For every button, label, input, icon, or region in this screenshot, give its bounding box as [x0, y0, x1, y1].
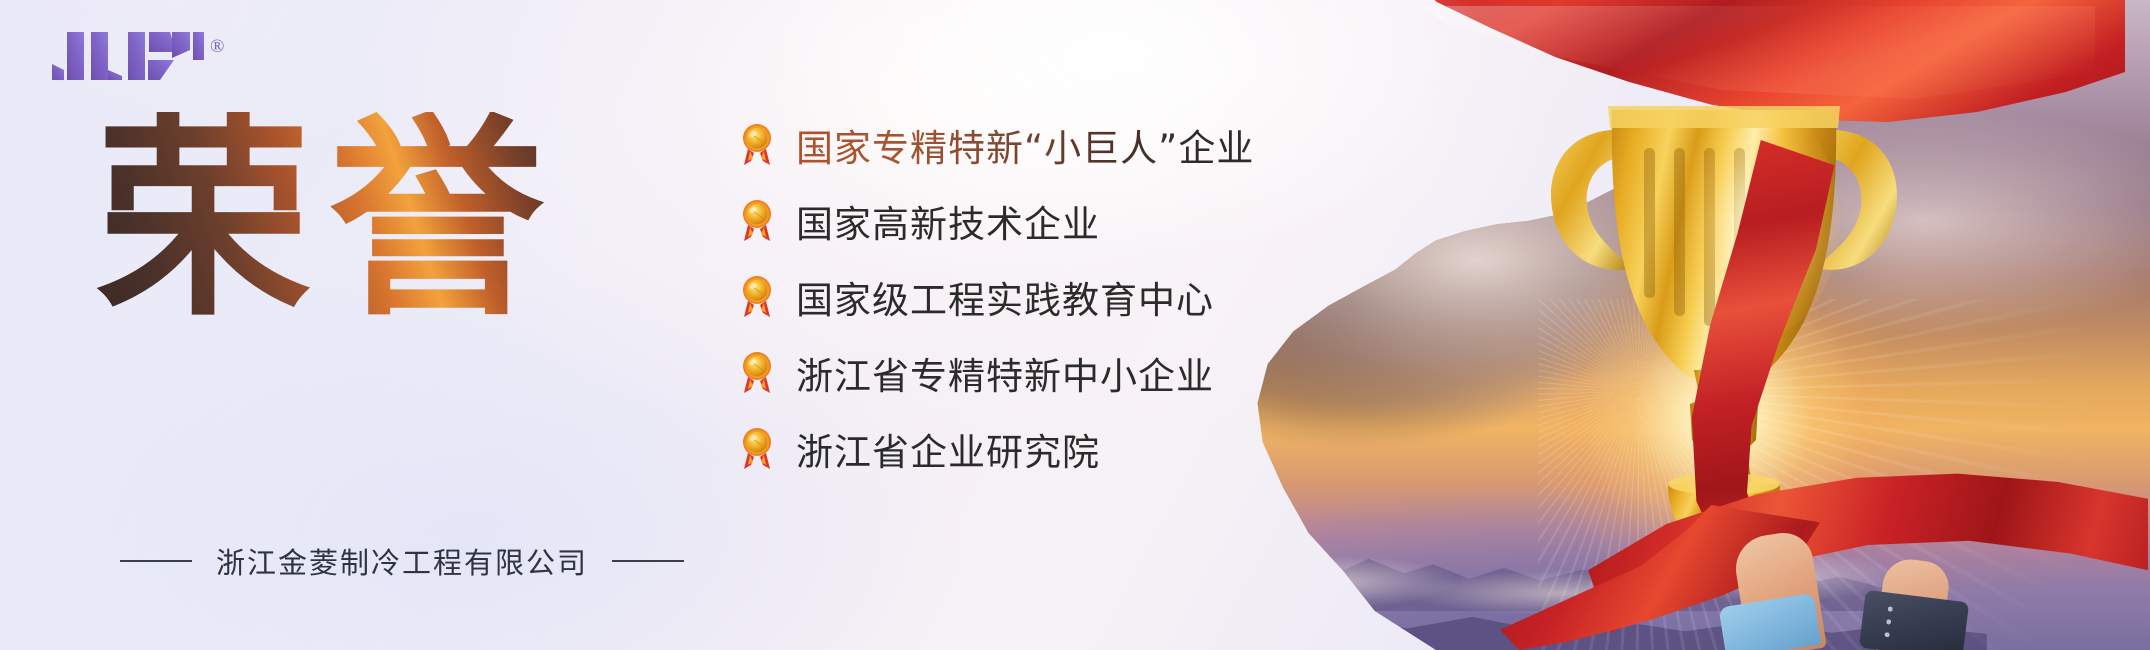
mountain-ridge-near-icon [1171, 578, 1987, 650]
cloud-sea [1191, 527, 1966, 637]
honor-label: 浙江省专精特新中小企业 [796, 346, 1214, 400]
sunset-mountain-scene [1130, 0, 2150, 650]
honor-item-0[interactable]: 国家专精特新“小巨人”企业 [740, 118, 1254, 172]
jllt-logomark-icon [52, 32, 204, 80]
company-name-block: 浙江金菱制冷工程有限公司 [120, 540, 684, 582]
honor-list: 国家专精特新“小巨人”企业 国家高新技术企业 [740, 118, 1254, 476]
honor-item-3[interactable]: 浙江省专精特新中小企业 [740, 346, 1254, 400]
medal-icon [740, 123, 774, 167]
rule-left [120, 560, 192, 562]
honor-label: 浙江省企业研究院 [796, 422, 1100, 476]
honor-label: 国家级工程实践教育中心 [796, 270, 1214, 324]
honor-item-1[interactable]: 国家高新技术企业 [740, 194, 1254, 248]
sun-rays [1538, 299, 2098, 650]
medal-icon [740, 427, 774, 471]
medal-icon [740, 351, 774, 395]
honor-item-2[interactable]: 国家级工程实践教育中心 [740, 270, 1254, 324]
medal-icon [740, 199, 774, 243]
registered-trademark-icon: ® [210, 36, 224, 58]
honor-label: 国家高新技术企业 [796, 194, 1100, 248]
trophy-photo [1130, 0, 2150, 650]
honor-label: 国家专精特新“小巨人”企业 [796, 118, 1254, 172]
medal-icon [740, 275, 774, 319]
honor-banner: ® 荣誉 浙江金菱制冷工程有限公司 [0, 0, 2150, 650]
honor-item-4[interactable]: 浙江省企业研究院 [740, 422, 1254, 476]
mountain-ridge-far-icon [1212, 521, 1926, 611]
company-name: 浙江金菱制冷工程有限公司 [216, 540, 588, 582]
company-logo[interactable]: ® [52, 32, 224, 80]
page-title: 荣誉 [96, 112, 562, 327]
rule-right [612, 560, 684, 562]
